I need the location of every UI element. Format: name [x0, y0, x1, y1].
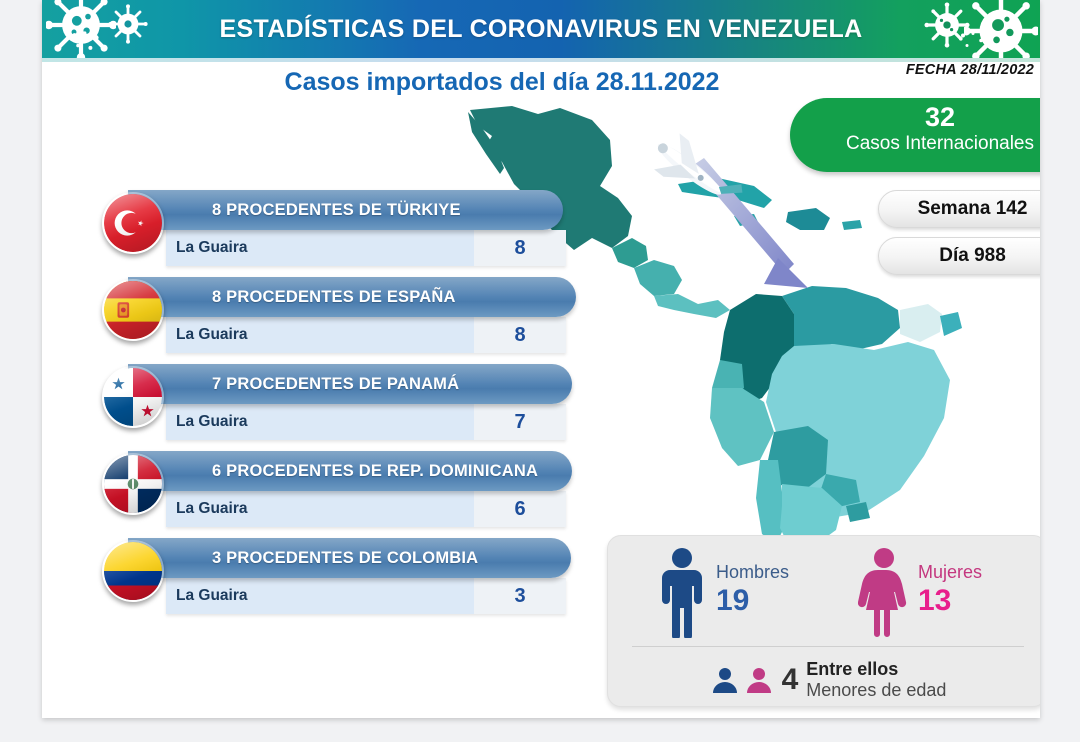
women-value: 13: [918, 584, 982, 618]
state-name: La Guaira: [166, 587, 474, 605]
day-badge: Día 988: [878, 237, 1040, 275]
international-cases-box: 32 Casos Internacionales: [790, 98, 1040, 172]
state-name: La Guaira: [166, 326, 474, 344]
state-name: La Guaira: [166, 239, 474, 257]
map-french-guiana: [940, 312, 962, 336]
country-detail-row: La Guaira 8: [166, 317, 566, 353]
content-card: ESTADÍSTICAS DEL CORONAVIRUS EN VENEZUEL…: [42, 0, 1040, 718]
country-title: 8 PROCEDENTES DE TÜRKIYE: [128, 190, 563, 230]
country-detail-row: La Guaira 8: [166, 230, 566, 266]
men-label: Hombres: [716, 560, 789, 584]
state-name: La Guaira: [166, 413, 474, 431]
women-stat: Mujeres 13: [858, 546, 982, 638]
international-cases-count: 32: [790, 102, 1040, 132]
country-detail-row: La Guaira 3: [166, 578, 566, 614]
colombia-flag-icon: [102, 540, 164, 602]
minors-icons: [710, 665, 774, 695]
state-count: 6: [474, 491, 566, 527]
country-detail-row: La Guaira 7: [166, 404, 566, 440]
panama-flag-icon: [102, 366, 164, 428]
dominican-republic-flag-icon: [102, 453, 164, 515]
turkey-flag-icon: [102, 192, 164, 254]
men-text: Hombres 19: [708, 546, 789, 618]
male-figure-icon: [656, 546, 708, 638]
map-puerto-rico: [842, 220, 862, 230]
men-value: 19: [716, 584, 789, 618]
state-count: 7: [474, 404, 566, 440]
gender-panel: Hombres 19 Mujeres 13: [607, 535, 1040, 707]
country-list: 8 PROCEDENTES DE TÜRKIYE La Guaira 8 8: [102, 190, 562, 625]
women-text: Mujeres 13: [910, 546, 982, 618]
fecha-label: FECHA 28/11/2022: [906, 62, 1034, 78]
minors-stat: 4 Entre ellos Menores de edad: [608, 654, 1040, 706]
map-peru: [710, 388, 774, 466]
minors-line2: Menores de edad: [806, 680, 946, 701]
page-title: ESTADÍSTICAS DEL CORONAVIRUS EN VENEZUEL…: [42, 0, 1040, 58]
country-detail-row: La Guaira 6: [166, 491, 566, 527]
men-stat: Hombres 19: [656, 546, 789, 638]
map-central-america: [634, 260, 682, 296]
country-row: 8 PROCEDENTES DE TÜRKIYE La Guaira 8: [102, 190, 562, 277]
country-row: 7 PROCEDENTES DE PANAMÁ La Guaira 7: [102, 364, 562, 451]
female-person-icon: [744, 665, 774, 695]
state-count: 8: [474, 317, 566, 353]
country-title: 7 PROCEDENTES DE PANAMÁ: [128, 364, 572, 404]
week-badge: Semana 142: [878, 190, 1040, 228]
map-guyanas: [900, 304, 942, 342]
header-banner: ESTADÍSTICAS DEL CORONAVIRUS EN VENEZUEL…: [42, 0, 1040, 58]
international-cases-label: Casos Internacionales: [790, 132, 1040, 156]
country-row: 6 PROCEDENTES DE REP. DOMINICANA La Guai…: [102, 451, 562, 538]
spain-flag-icon: [102, 279, 164, 341]
women-label: Mujeres: [918, 560, 982, 584]
country-row: 3 PROCEDENTES DE COLOMBIA La Guaira 3: [102, 538, 562, 625]
country-title: 6 PROCEDENTES DE REP. DOMINICANA: [128, 451, 572, 491]
map-costa-rica-panama: [654, 294, 730, 318]
state-count: 3: [474, 578, 566, 614]
minors-text: Entre ellos Menores de edad: [806, 659, 946, 701]
country-row: 8 PROCEDENTES DE ESPAÑA La Guaira 8: [102, 277, 562, 364]
infographic-page: ESTADÍSTICAS DEL CORONAVIRUS EN VENEZUEL…: [0, 0, 1080, 742]
map-hispaniola: [786, 208, 830, 230]
state-name: La Guaira: [166, 500, 474, 518]
female-figure-icon: [858, 546, 910, 638]
state-count: 8: [474, 230, 566, 266]
map-venezuela: [782, 286, 900, 352]
male-person-icon: [710, 665, 740, 695]
minors-value: 4: [782, 663, 799, 697]
minors-line1: Entre ellos: [806, 659, 946, 680]
country-title: 3 PROCEDENTES DE COLOMBIA: [128, 538, 571, 578]
divider: [632, 646, 1024, 647]
country-title: 8 PROCEDENTES DE ESPAÑA: [128, 277, 576, 317]
gender-top: Hombres 19 Mujeres 13: [608, 536, 1040, 644]
